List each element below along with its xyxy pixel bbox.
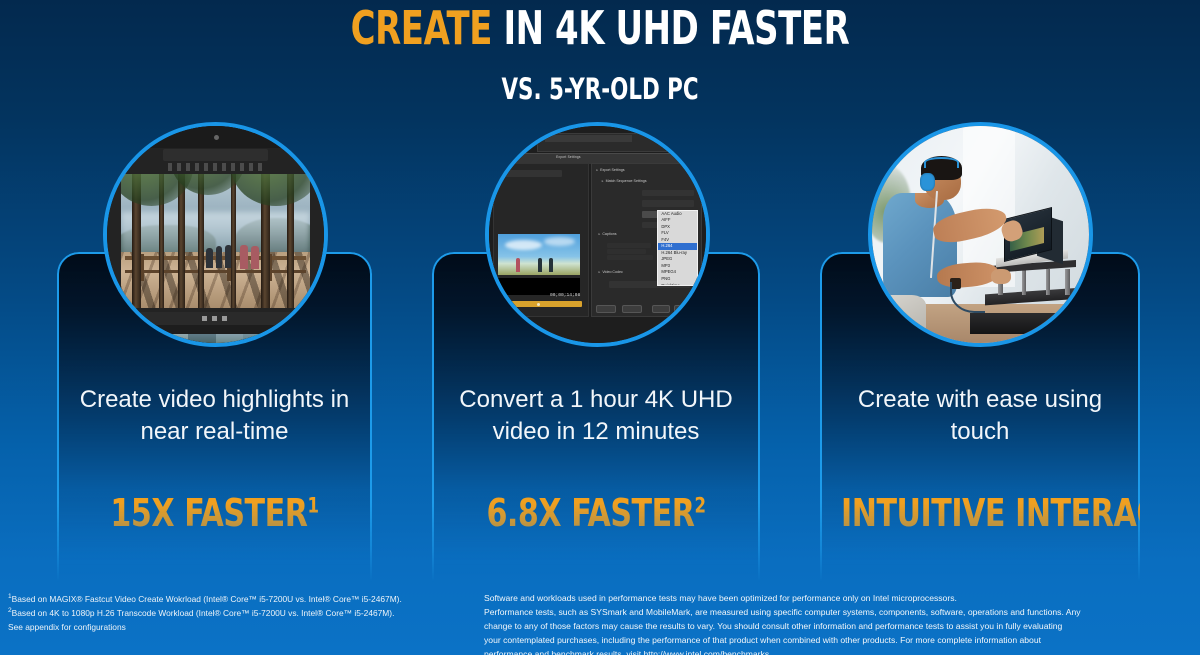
- card-2-stat-footnote-marker: 2: [694, 493, 705, 517]
- footnote-1: 1Based on MAGIX® Fastcut Video Create Wo…: [8, 592, 478, 606]
- footnotes-left: 1Based on MAGIX® Fastcut Video Create Wo…: [8, 592, 478, 634]
- format-option-checked[interactable]: Quicktime: [658, 283, 697, 286]
- touch-usage-photo: [872, 126, 1089, 343]
- footnotes-right-disclaimer: Software and workloads used in performan…: [484, 591, 1192, 655]
- format-dropdown-list[interactable]: AAC Audio AIFF DPX FLV F4V H.264 H.264 B…: [657, 210, 698, 286]
- export-dialog-buttons: [596, 305, 696, 313]
- card-3-image-circle: [868, 122, 1093, 347]
- export-timecode: 00;00;14;08: [550, 293, 580, 298]
- card-1-stat-footnote-marker: 1: [307, 493, 318, 517]
- disclaimer-line: performance and benchmark results, visit…: [484, 647, 1192, 655]
- section-export-settings[interactable]: Export Settings: [596, 168, 624, 172]
- card-3-caption: Create with ease using touch: [830, 384, 1130, 448]
- headline-rest: IN 4K UHD FASTER: [492, 1, 849, 55]
- card-1-stat-value: 15X FASTER: [110, 491, 307, 535]
- card-3-stat: INTUITIVE INTERACTION: [841, 491, 1119, 535]
- disclaimer-line: change to any of those factors may cause…: [484, 619, 1192, 633]
- editor-preview-canvas: [121, 174, 310, 308]
- card-1-caption: Create video highlights in near real-tim…: [67, 384, 362, 448]
- export-dialog-title: Export Settings: [556, 155, 581, 159]
- footnote-1-text: Based on MAGIX® Fastcut Video Create Wok…: [12, 594, 402, 604]
- cancel-button[interactable]: [674, 305, 694, 313]
- page-title: CREATE IN 4K UHD FASTER: [108, 4, 1092, 52]
- headphones-band-icon: [924, 157, 959, 168]
- video-editor-screenshot: [107, 126, 324, 343]
- export-preview-pane: 00;00;14;08: [493, 163, 588, 317]
- export-settings-screenshot: Export Settings 00;00;14;08 Export: [489, 126, 706, 343]
- card-2-image-circle: Export Settings 00;00;14;08 Export: [485, 122, 710, 347]
- footnote-2: 2Based on 4K to 1080p H.26 Transcode Wor…: [8, 606, 478, 620]
- card-2-stat: 6.8X FASTER2: [453, 491, 738, 535]
- headphones-earcup-icon: [920, 173, 935, 191]
- queue-button[interactable]: [622, 305, 642, 313]
- disclaimer-line: Software and workloads used in performan…: [484, 591, 1192, 605]
- disclaimer-line: your contemplated purchases, including t…: [484, 633, 1192, 647]
- section-captions[interactable]: Captions: [599, 232, 617, 236]
- slide-canvas: CREATE IN 4K UHD FASTER VS. 5-YR-OLD PC …: [0, 0, 1200, 655]
- headline-accent-word: CREATE: [351, 1, 492, 55]
- metadata-button[interactable]: [596, 305, 616, 313]
- section-video-codec[interactable]: Video Codec: [599, 270, 623, 274]
- subtitle: VS. 5-YR-OLD PC: [108, 72, 1092, 106]
- footnote-2-text: Based on 4K to 1080p H.26 Transcode Work…: [12, 608, 395, 618]
- section-match-sequence[interactable]: Match Sequence Settings: [602, 179, 647, 183]
- footnote-3: See appendix for configurations: [8, 621, 478, 635]
- card-2-caption: Convert a 1 hour 4K UHD video in 12 minu…: [442, 384, 750, 448]
- export-settings-pane: Export Settings Match Sequence Settings …: [591, 163, 702, 317]
- headline-block: CREATE IN 4K UHD FASTER VS. 5-YR-OLD PC: [0, 4, 1200, 106]
- card-3-stat-value: INTUITIVE INTERACTION: [841, 491, 1200, 535]
- export-button[interactable]: [652, 305, 670, 313]
- card-2-stat-value: 6.8X FASTER: [486, 491, 694, 535]
- card-1-stat: 15X FASTER1: [78, 491, 352, 535]
- disclaimer-line: Performance tests, such as SYSmark and M…: [484, 605, 1192, 619]
- card-1-image-circle: [103, 122, 328, 347]
- footnote-3-text: See appendix for configurations: [8, 622, 126, 632]
